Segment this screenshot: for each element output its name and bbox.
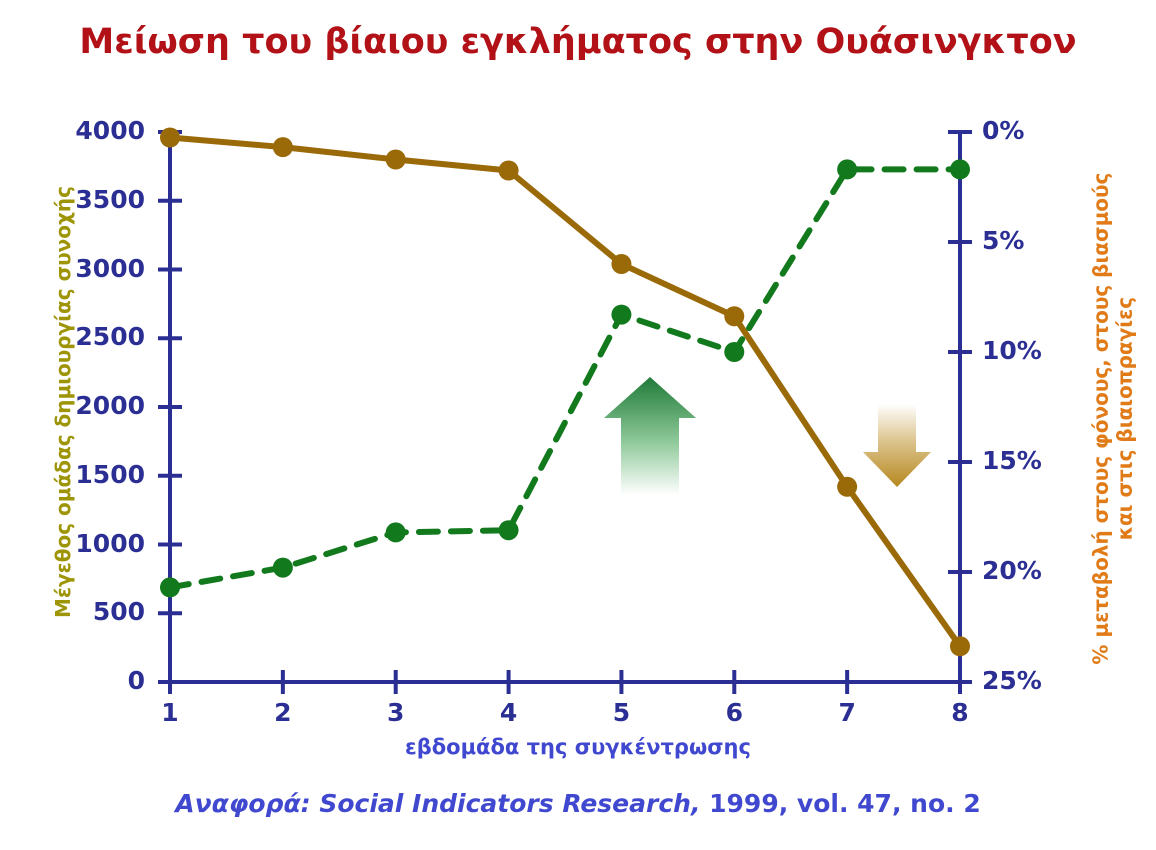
x-tick-label: 6	[704, 698, 764, 727]
violent-crime-change-point	[611, 305, 631, 325]
y-right-tick-label: 5%	[982, 226, 1024, 255]
y-left-tick-label: 1000	[20, 529, 145, 558]
y-left-tick-label: 2000	[20, 391, 145, 420]
y-right-tick-label: 15%	[982, 446, 1042, 475]
violent-crime-change-point	[499, 520, 519, 540]
x-tick-label: 2	[253, 698, 313, 727]
violent-crime-change-point	[837, 159, 857, 179]
violent-crime-change-line	[170, 169, 960, 587]
caption-rest: 1999, vol. 47, no. 2	[700, 789, 980, 818]
cohesion-group-size-point	[950, 636, 970, 656]
x-tick-label: 3	[366, 698, 426, 727]
y-left-tick-label: 4000	[20, 116, 145, 145]
violent-crime-change-point	[386, 522, 406, 542]
series-violent-crime-change	[160, 159, 970, 597]
y-right-tick-label: 10%	[982, 336, 1042, 365]
y-left-tick-label: 1500	[20, 460, 145, 489]
y-right-tick-label: 0%	[982, 116, 1024, 145]
cohesion-group-size-point	[386, 150, 406, 170]
cohesion-group-size-point	[611, 254, 631, 274]
y-left-tick-label: 3000	[20, 254, 145, 283]
cohesion-group-size-point	[837, 477, 857, 497]
x-tick-label: 5	[591, 698, 651, 727]
down-arrow-icon	[863, 404, 931, 487]
x-tick-label: 4	[479, 698, 539, 727]
violent-crime-change-point	[160, 577, 180, 597]
caption-italic: Αναφορά: Social Indicators Research,	[175, 789, 700, 818]
violent-crime-change-point	[724, 342, 744, 362]
up-arrow-icon	[604, 377, 696, 495]
y-left-tick-label: 500	[20, 597, 145, 626]
y-right-tick-label: 20%	[982, 556, 1042, 585]
x-tick-label: 8	[930, 698, 990, 727]
y-left-tick-label: 3500	[20, 185, 145, 214]
violent-crime-change-point	[950, 159, 970, 179]
x-tick-label: 7	[817, 698, 877, 727]
cohesion-group-size-point	[724, 306, 744, 326]
x-tick-label: 1	[140, 698, 200, 727]
x-axis-label: εβδομάδα της συγκέντρωσης	[0, 735, 1156, 759]
y-right-tick-label: 25%	[982, 666, 1042, 695]
cohesion-group-size-point	[160, 128, 180, 148]
y-left-tick-label: 0	[20, 666, 145, 695]
chart-page: Μείωση του βίαιου εγκλήματος στην Ουάσιν…	[0, 0, 1156, 850]
cohesion-group-size-point	[499, 161, 519, 181]
violent-crime-change-point	[273, 558, 293, 578]
cohesion-group-size-point	[273, 137, 293, 157]
y-left-tick-label: 2500	[20, 322, 145, 351]
source-caption: Αναφορά: Social Indicators Research, 199…	[0, 789, 1156, 818]
